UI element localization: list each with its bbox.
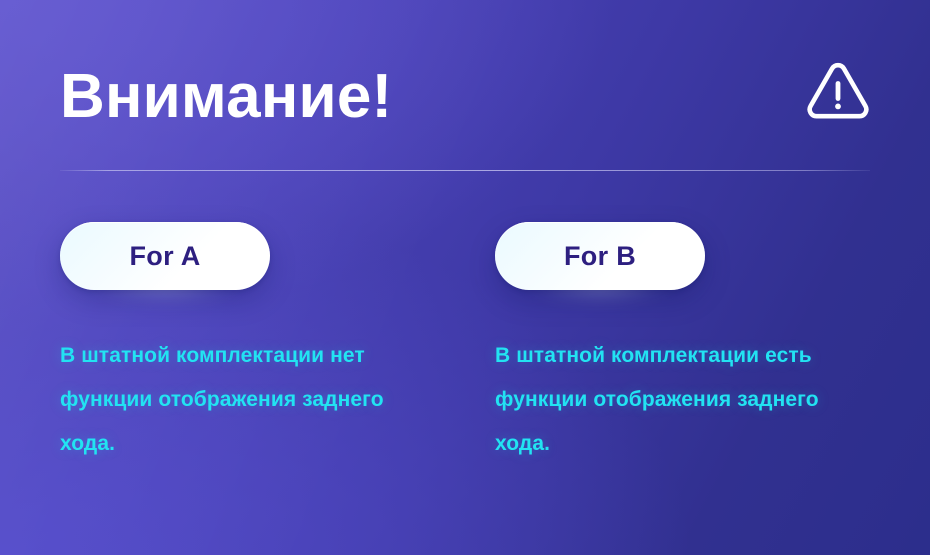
warning-triangle-icon <box>806 62 870 124</box>
column-for-a: For A В штатной комплектации нет функции… <box>60 222 270 466</box>
pill-wrap-for-a: For A <box>60 222 270 290</box>
for-b-button[interactable]: For B <box>495 222 705 290</box>
for-a-button[interactable]: For A <box>60 222 270 290</box>
pill-wrap-for-b: For B <box>495 222 705 290</box>
note-for-a: В штатной комплектации нет функции отобр… <box>60 290 440 466</box>
columns-container: For A В штатной комплектации нет функции… <box>60 222 870 466</box>
page-title: Внимание! <box>60 54 392 140</box>
note-for-b: В штатной комплектации есть функции отоб… <box>495 290 875 466</box>
slide-root: Внимание! For A В штатной комплектации н… <box>0 0 930 555</box>
column-for-b: For B В штатной комплектации есть функци… <box>495 222 705 466</box>
header: Внимание! <box>60 54 870 140</box>
header-divider <box>60 170 870 171</box>
